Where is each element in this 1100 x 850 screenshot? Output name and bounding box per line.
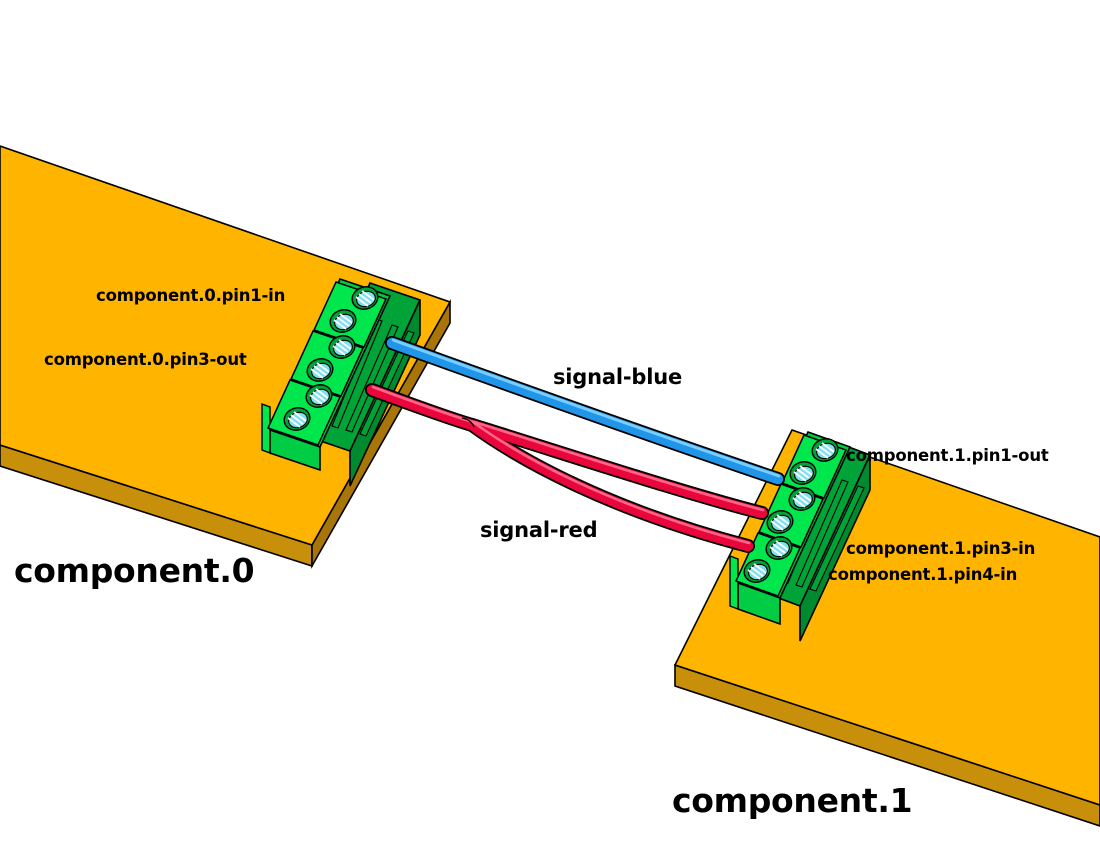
pin-label-component-1-pin4-in: component.1.pin4-in [828,565,1017,584]
board-label-component-0: component.0 [14,551,254,590]
board-label-component-1: component.1 [672,781,912,820]
signal-label-signal-blue: signal-blue [553,365,682,389]
pin-label-component-0-pin1-in: component.0.pin1-in [96,286,285,305]
board-component-1[interactable] [675,430,1100,826]
pin-label-component-1-pin3-in: component.1.pin3-in [846,539,1035,558]
diagram-canvas: component.0.pin1-in component.0.pin3-out… [0,0,1100,850]
pin-label-component-1-pin1-out: component.1.pin1-out [846,446,1049,465]
pin-label-component-0-pin3-out: component.0.pin3-out [44,350,247,369]
connector-1-front-skirt [730,556,738,609]
signal-label-signal-red: signal-red [480,518,597,542]
wiring-diagram-svg [0,0,1100,850]
